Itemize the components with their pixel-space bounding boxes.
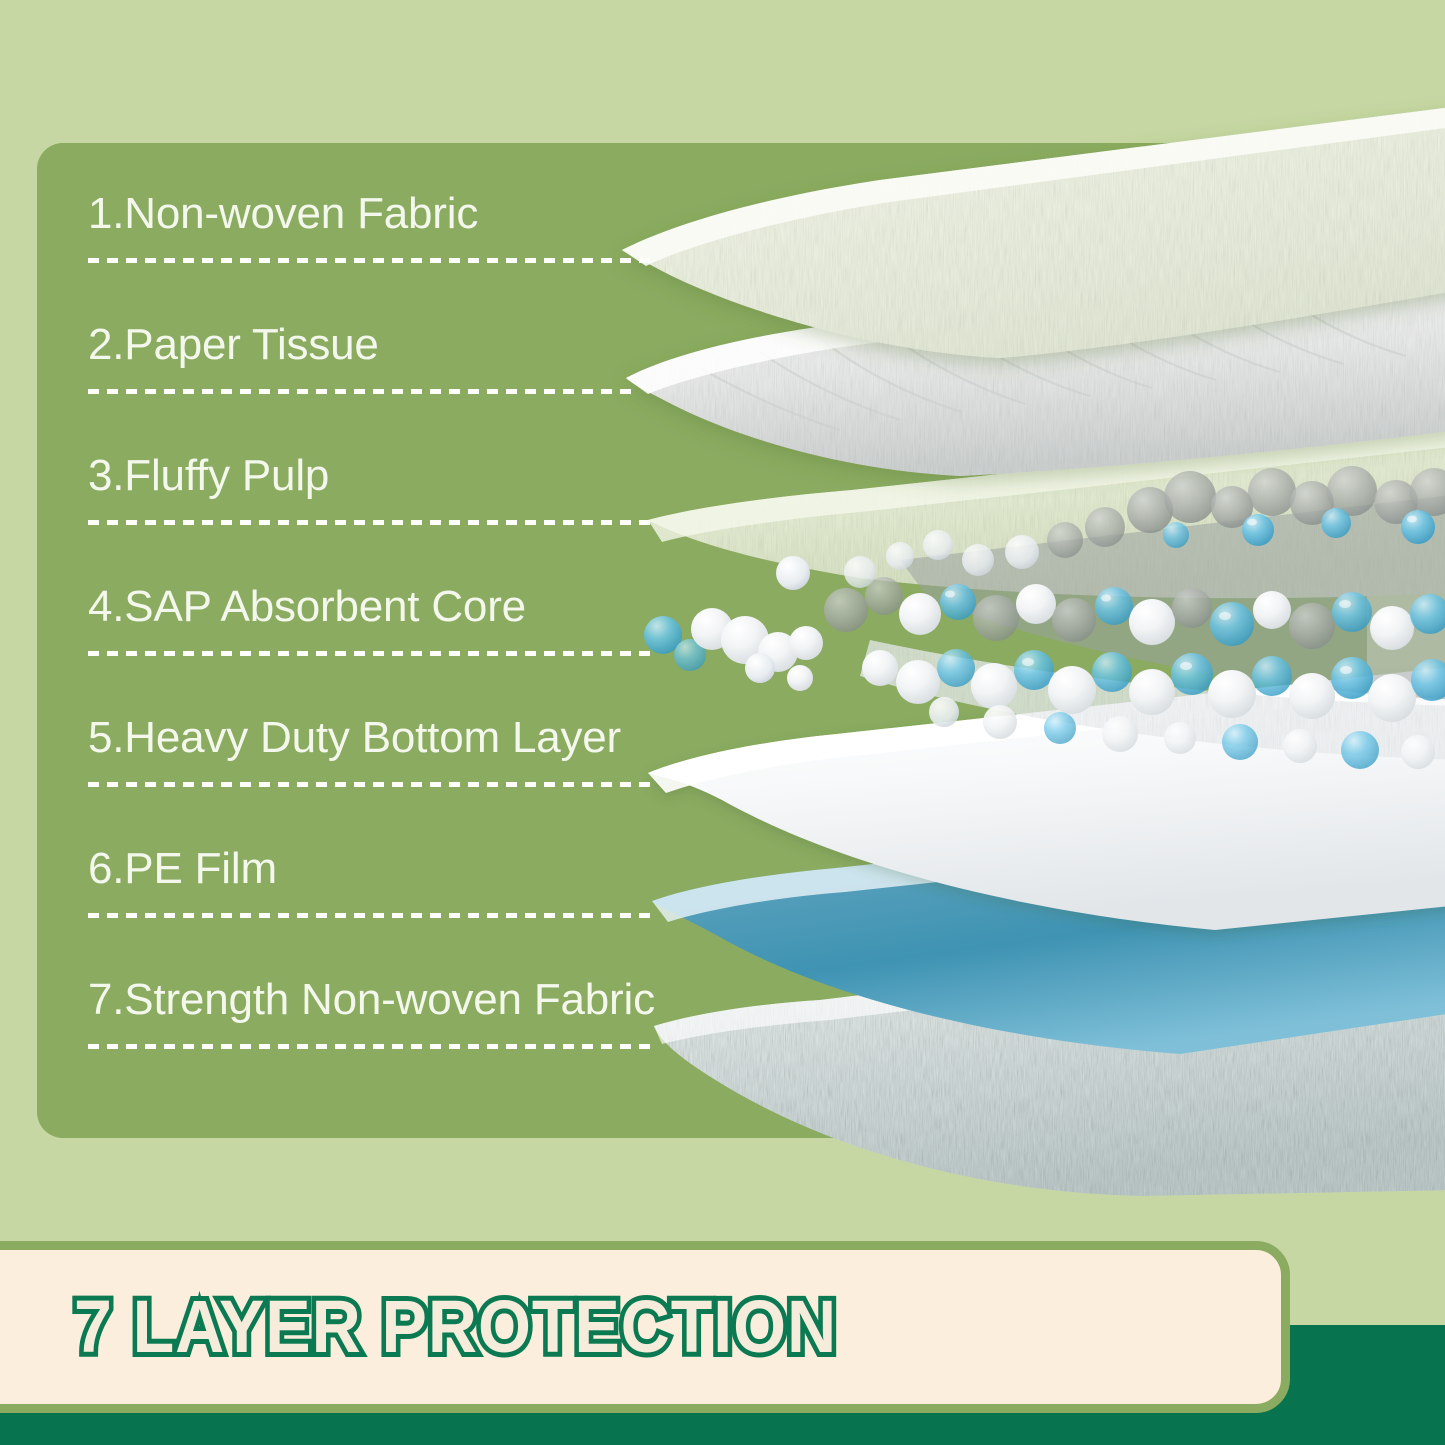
leader-line-7 (88, 1044, 654, 1049)
leader-line-6 (88, 913, 654, 918)
layer-label-7: 7.Strength Non-woven Fabric (88, 978, 655, 1022)
leader-line-5 (88, 782, 654, 787)
layer-row-1: 1.Non-woven Fabric (88, 182, 658, 313)
layer-row-2: 2.Paper Tissue (88, 313, 658, 444)
layer-row-6: 6.PE Film (88, 837, 658, 968)
layer-label-2: 2.Paper Tissue (88, 323, 379, 367)
infographic-root: 1.Non-woven Fabric 2.Paper Tissue 3.Fluf… (0, 0, 1445, 1445)
layer-row-4: 4.SAP Absorbent Core (88, 575, 658, 706)
layer-label-5: 5.Heavy Duty Bottom Layer (88, 716, 621, 760)
leader-line-2 (88, 389, 633, 394)
layer-label-4: 4.SAP Absorbent Core (88, 585, 526, 629)
layer-row-5: 5.Heavy Duty Bottom Layer (88, 706, 658, 837)
layer-label-3: 3.Fluffy Pulp (88, 454, 329, 498)
layer-label-list: 1.Non-woven Fabric 2.Paper Tissue 3.Fluf… (88, 182, 658, 1099)
layer-row-3: 3.Fluffy Pulp (88, 444, 658, 575)
layer-row-7: 7.Strength Non-woven Fabric (88, 968, 658, 1099)
leader-line-4 (88, 651, 654, 656)
layer-label-1: 1.Non-woven Fabric (88, 192, 478, 236)
layer-label-6: 6.PE Film (88, 847, 277, 891)
headline-text: 7 LAYER PROTECTION (74, 1284, 837, 1369)
leader-line-3 (88, 520, 654, 525)
headline-banner: 7 LAYER PROTECTION (0, 1241, 1290, 1413)
leader-line-1 (88, 258, 654, 263)
